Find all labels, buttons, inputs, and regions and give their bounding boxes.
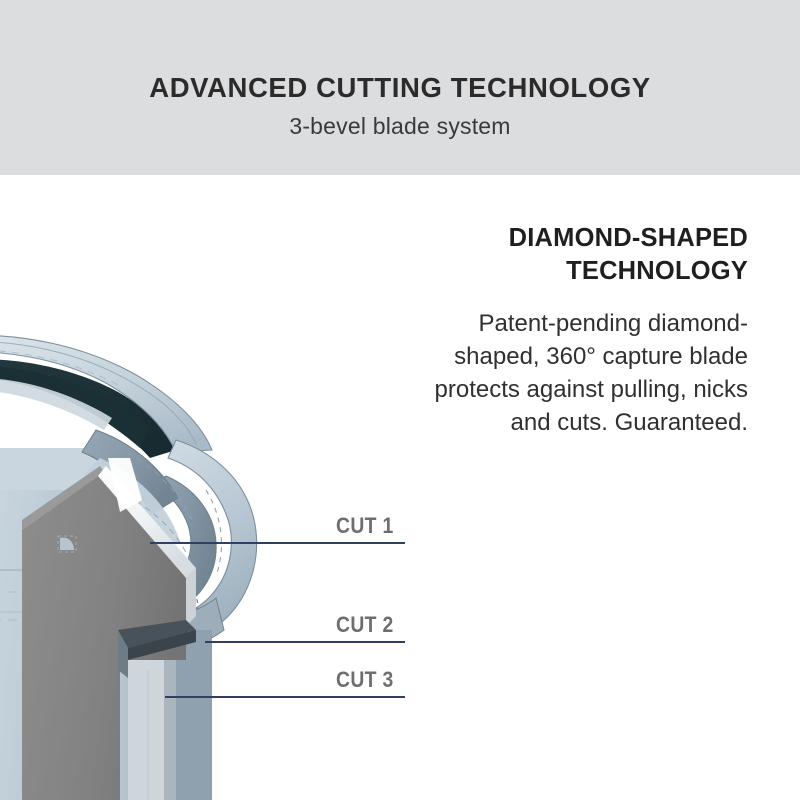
feature-body-text: Patent-pending diamond-shaped, 360° capt… <box>404 308 748 440</box>
callout-leader-line-3 <box>165 696 405 698</box>
razor-cartridge-svg <box>0 330 420 800</box>
callout-leader-line-2 <box>205 641 405 643</box>
header-subtitle: 3-bevel blade system <box>0 113 800 140</box>
blade-lower-plate <box>128 660 176 800</box>
product-illustration <box>0 330 420 800</box>
callout-label-cut-2: CUT 2 <box>336 612 394 638</box>
infographic-page: ADVANCED CUTTING TECHNOLOGY 3-bevel blad… <box>0 0 800 800</box>
header-title: ADVANCED CUTTING TECHNOLOGY <box>0 72 800 104</box>
header-band: ADVANCED CUTTING TECHNOLOGY 3-bevel blad… <box>0 0 800 175</box>
callout-leader-line-1 <box>150 542 405 544</box>
feature-text-block: DIAMOND-SHAPED TECHNOLOGY Patent-pending… <box>404 222 748 440</box>
feature-heading: DIAMOND-SHAPED TECHNOLOGY <box>404 222 748 287</box>
callout-label-cut-3: CUT 3 <box>336 667 394 693</box>
callout-label-cut-1: CUT 1 <box>336 513 394 539</box>
